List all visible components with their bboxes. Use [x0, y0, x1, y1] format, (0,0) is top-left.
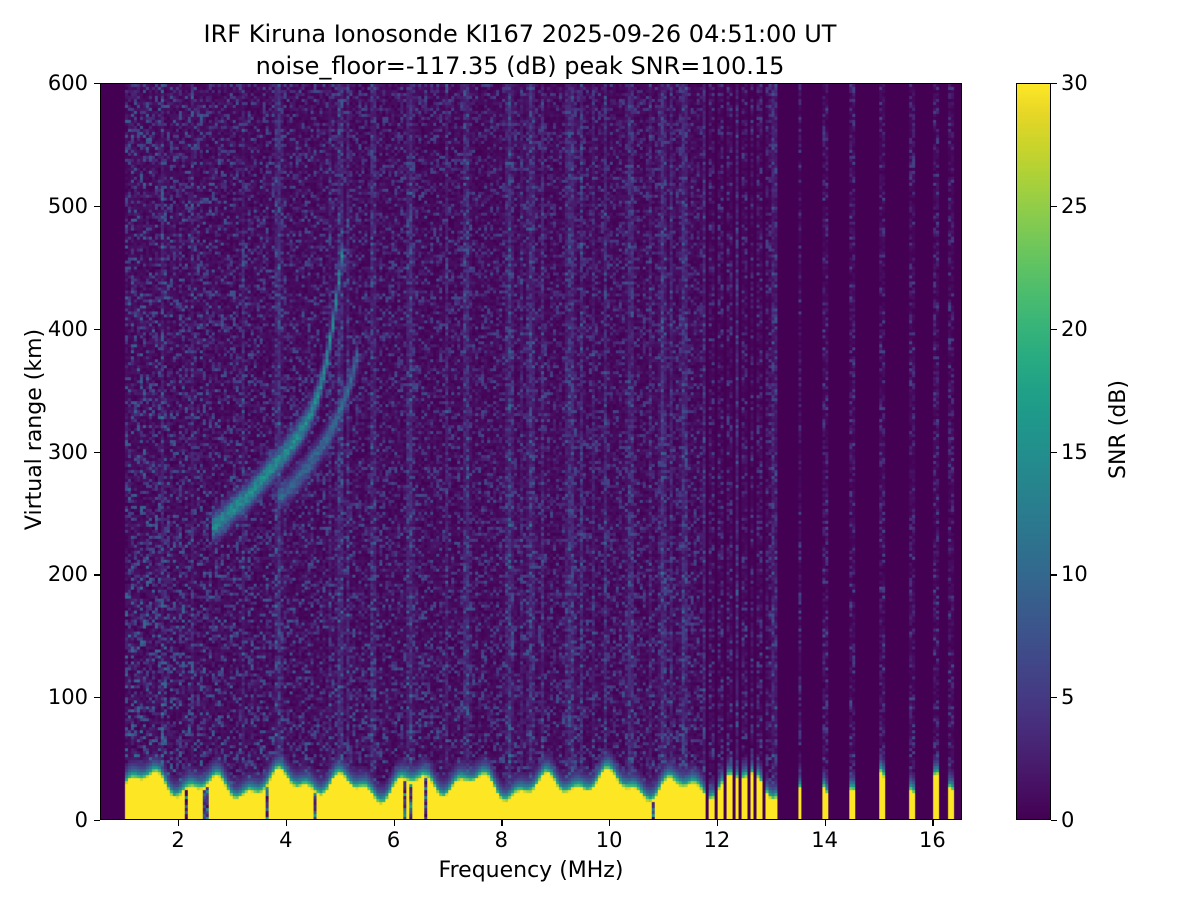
colorbar-tick-mark: [1051, 574, 1057, 575]
colorbar-tick-mark: [1051, 329, 1057, 330]
x-tick-label: 16: [902, 828, 962, 852]
x-tick-mark: [825, 820, 826, 826]
x-tick-label: 14: [795, 828, 855, 852]
y-tick-mark: [94, 329, 100, 330]
x-tick-mark: [609, 820, 610, 826]
x-tick-label: 8: [471, 828, 531, 852]
title-line-2: noise_floor=-117.35 (dB) peak SNR=100.15: [0, 50, 1040, 82]
colorbar-tick-label: 0: [1061, 808, 1074, 832]
colorbar-tick-label: 20: [1061, 317, 1088, 341]
y-tick-label: 0: [18, 808, 88, 832]
y-tick-mark: [94, 574, 100, 575]
colorbar-tick-mark: [1051, 83, 1057, 84]
y-tick-label: 500: [18, 194, 88, 218]
x-tick-mark: [932, 820, 933, 826]
figure-title: IRF Kiruna Ionosonde KI167 2025-09-26 04…: [0, 18, 1040, 82]
x-tick-mark: [286, 820, 287, 826]
colorbar: [1016, 83, 1051, 820]
colorbar-gradient: [1017, 84, 1050, 819]
ionogram-heatmap: [101, 84, 961, 819]
y-tick-mark: [94, 206, 100, 207]
y-tick-mark: [94, 452, 100, 453]
title-line-1: IRF Kiruna Ionosonde KI167 2025-09-26 04…: [204, 20, 837, 48]
x-tick-mark: [717, 820, 718, 826]
colorbar-tick-mark: [1051, 452, 1057, 453]
y-tick-mark: [94, 83, 100, 84]
ionogram-figure: IRF Kiruna Ionosonde KI167 2025-09-26 04…: [0, 0, 1200, 900]
x-tick-mark: [394, 820, 395, 826]
x-tick-label: 6: [364, 828, 424, 852]
x-tick-label: 2: [148, 828, 208, 852]
y-tick-mark: [94, 820, 100, 821]
colorbar-tick-mark: [1051, 206, 1057, 207]
y-tick-label: 300: [18, 440, 88, 464]
colorbar-tick-label: 15: [1061, 440, 1088, 464]
x-tick-mark: [501, 820, 502, 826]
colorbar-tick-mark: [1051, 697, 1057, 698]
x-tick-label: 4: [256, 828, 316, 852]
y-tick-label: 200: [18, 562, 88, 586]
y-tick-label: 400: [18, 317, 88, 341]
y-tick-label: 600: [18, 71, 88, 95]
colorbar-tick-label: 25: [1061, 194, 1088, 218]
x-tick-label: 10: [579, 828, 639, 852]
x-tick-label: 12: [687, 828, 747, 852]
ionogram-plot-area[interactable]: [100, 83, 962, 820]
x-tick-mark: [178, 820, 179, 826]
colorbar-tick-label: 30: [1061, 71, 1088, 95]
colorbar-tick-label: 5: [1061, 685, 1074, 709]
x-axis-label: Frequency (MHz): [100, 858, 962, 883]
y-tick-label: 100: [18, 685, 88, 709]
y-tick-mark: [94, 697, 100, 698]
colorbar-tick-mark: [1051, 820, 1057, 821]
colorbar-label: SNR (dB): [1106, 61, 1131, 798]
colorbar-tick-label: 10: [1061, 562, 1088, 586]
